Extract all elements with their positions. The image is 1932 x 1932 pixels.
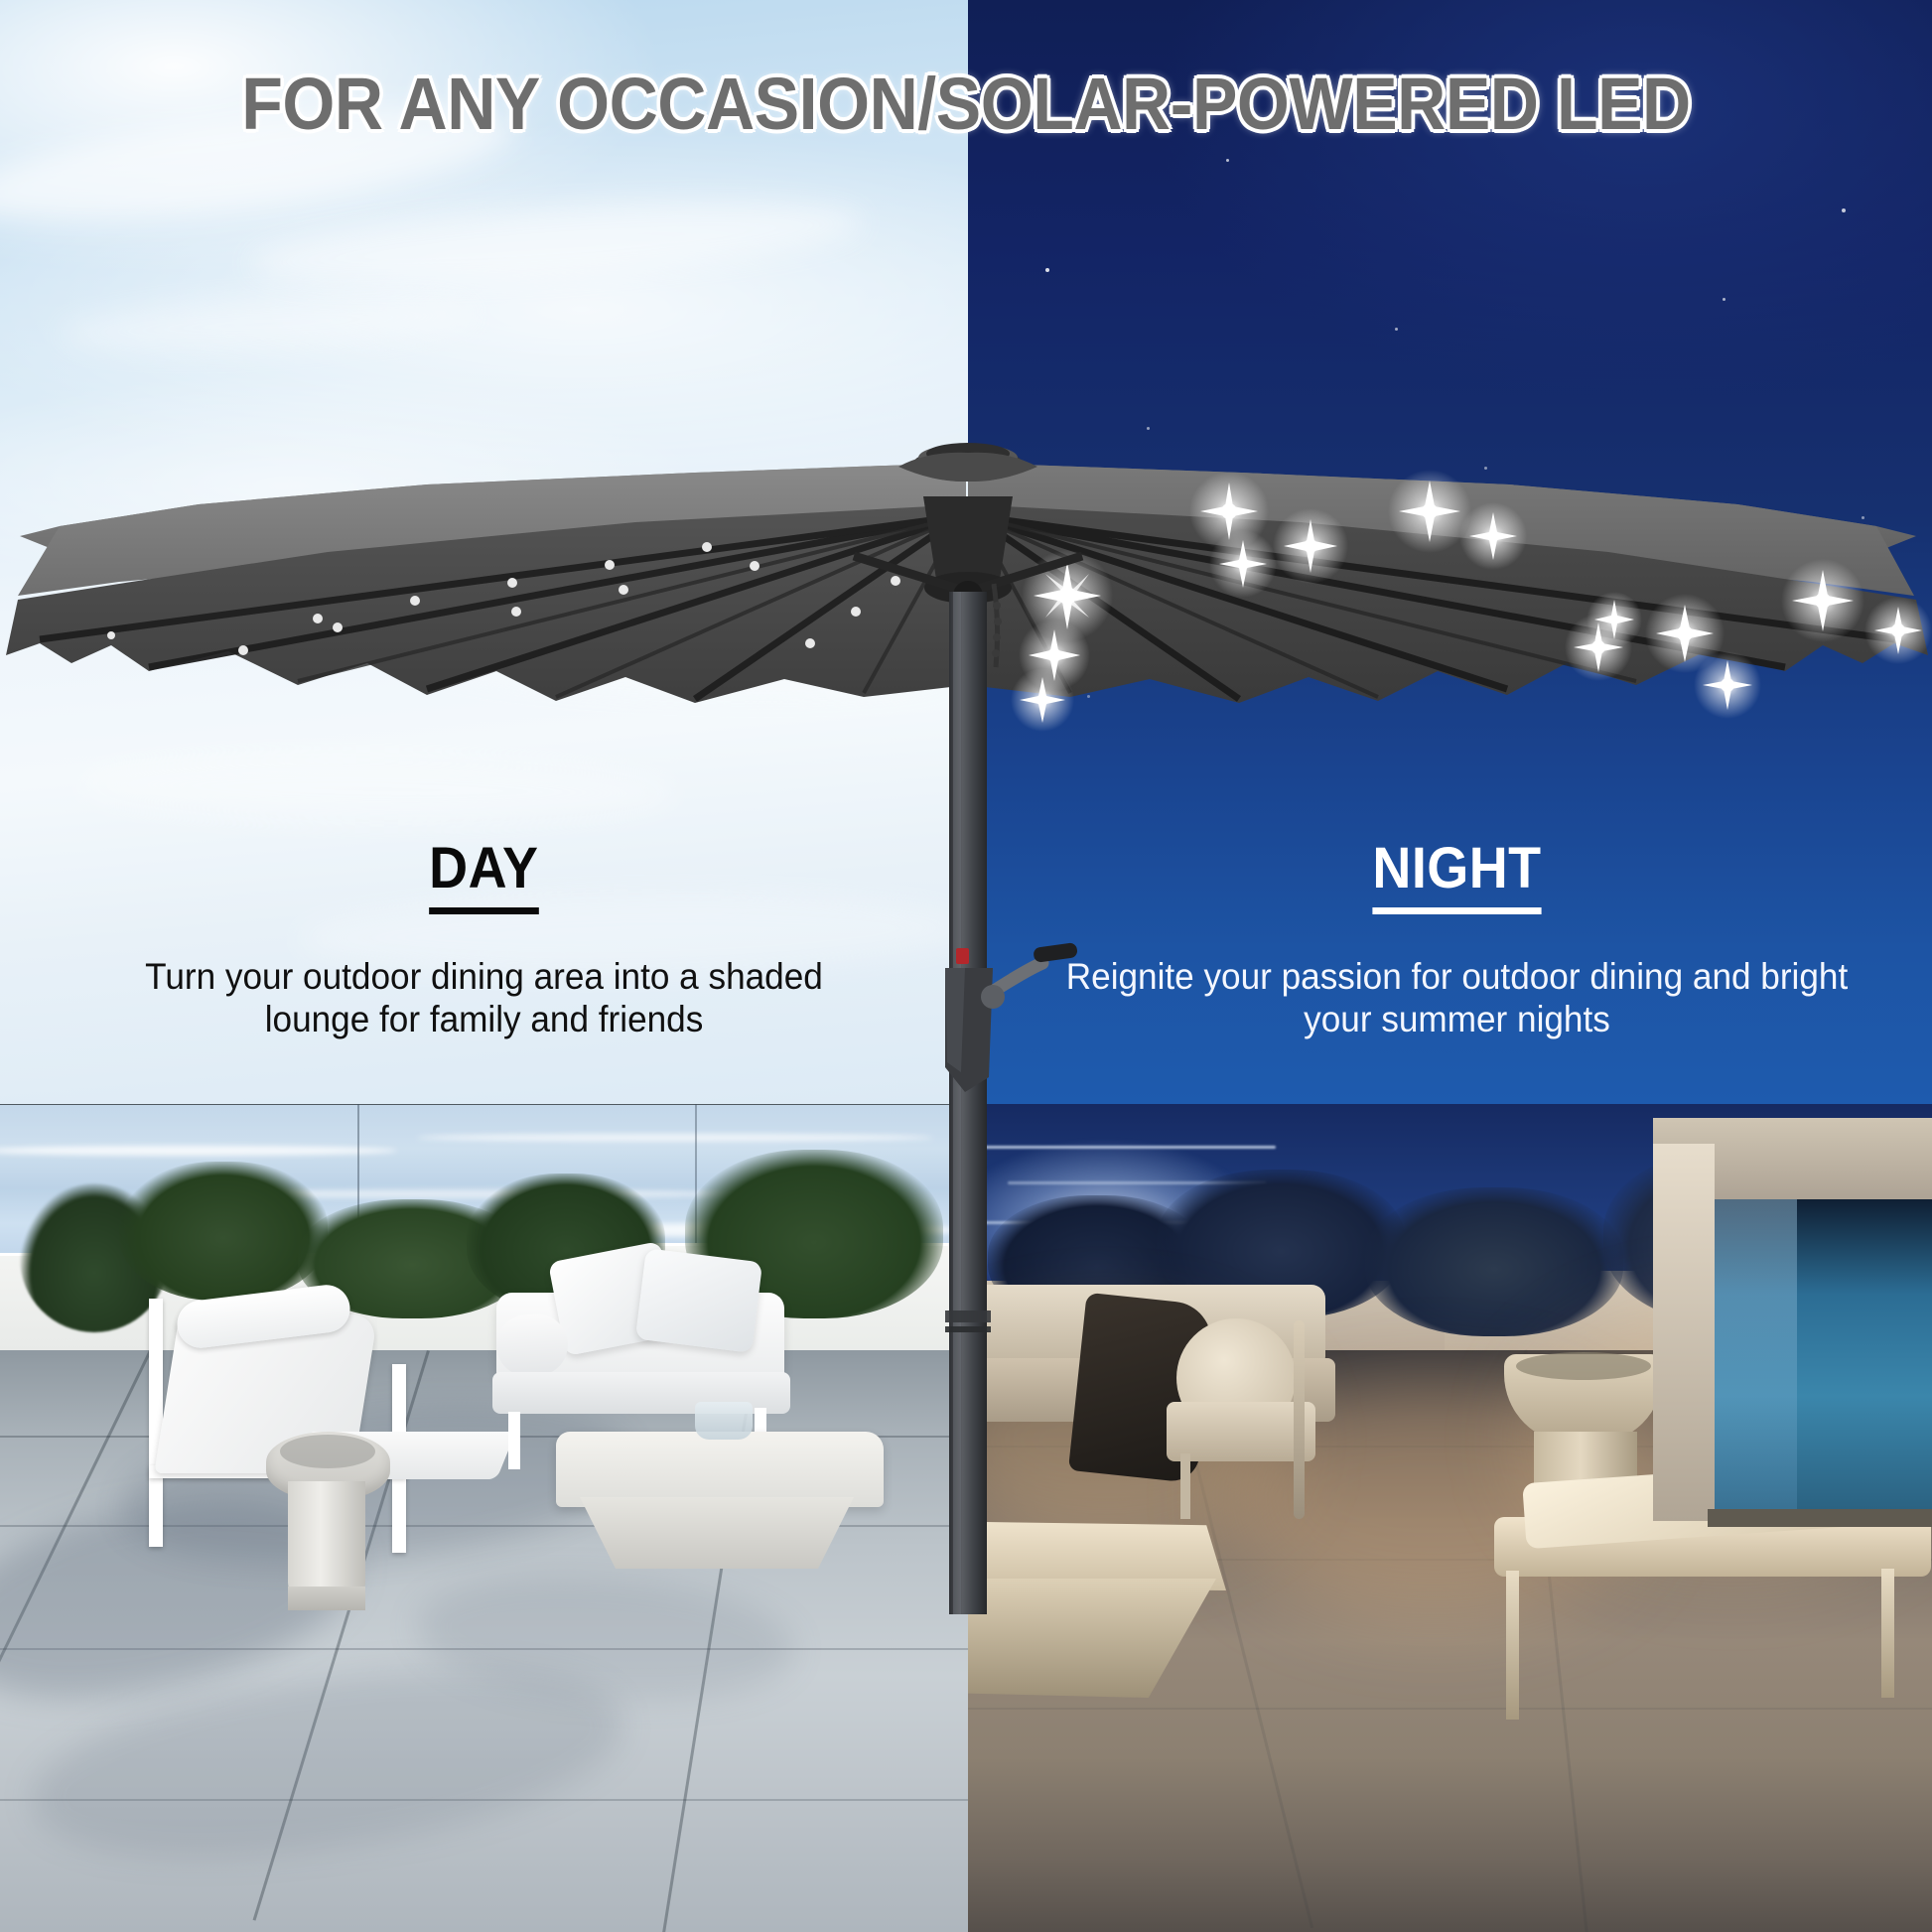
product-banner: FOR ANY OCCASION/SOLAR-POWERED LED DAY T… (0, 0, 1932, 1932)
glass-vessel (695, 1402, 753, 1440)
plant-silhouette (1365, 1187, 1623, 1336)
day-caption: DAY (429, 839, 538, 914)
cloud-wisp (246, 187, 865, 299)
night-panel: NIGHT Reignite your passion for outdoor … (1042, 839, 1871, 1041)
plant (119, 1162, 328, 1301)
night-description: Reignite your passion for outdoor dining… (1063, 956, 1851, 1041)
day-description: Turn your outdoor dining area into a sha… (90, 956, 878, 1041)
day-patio-scene (0, 1104, 968, 1932)
cloud-wisp (59, 287, 478, 360)
day-panel: DAY Turn your outdoor dining area into a… (69, 839, 898, 1041)
cloud-wisp (78, 750, 675, 829)
cloud-wisp (416, 626, 954, 705)
page-headline: FOR ANY OCCASION/SOLAR-POWERED LED (77, 62, 1855, 146)
night-caption: NIGHT (1372, 839, 1541, 914)
night-patio-scene (968, 1104, 1932, 1932)
